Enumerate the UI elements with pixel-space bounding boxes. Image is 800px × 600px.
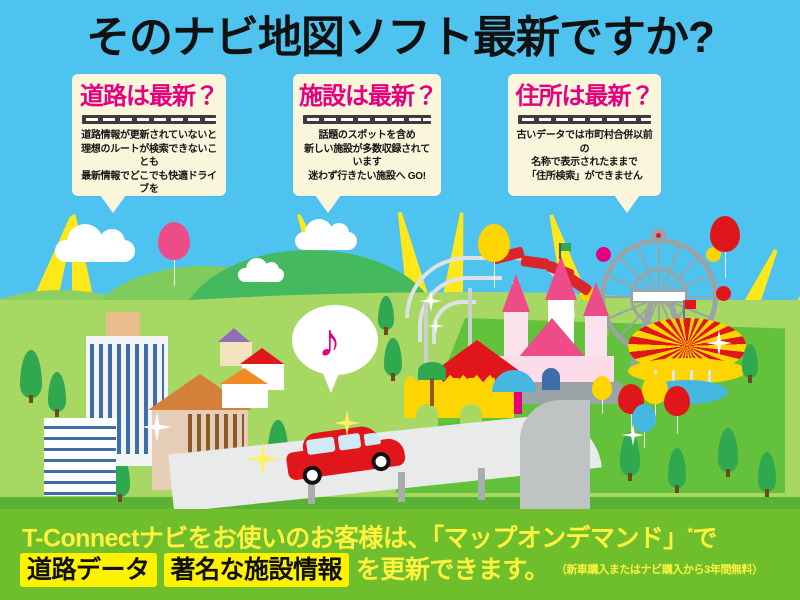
bubble-line: 最新情報でどこでも快適ドライブを (78, 170, 220, 197)
bubble-tail (315, 195, 341, 213)
balloon (158, 222, 190, 260)
tree (742, 344, 758, 378)
balloon (632, 404, 656, 432)
music-note-bubble: ♪ (292, 305, 378, 375)
info-bubble-address: 住所は最新？ 古いデータでは市町村合併以前の 名称で表示されたままで 「住所検索… (508, 74, 661, 196)
balloon (710, 216, 740, 252)
banner-subline: 道路データ 著名な施設情報 を更新できます。 （新車購入またはナビ購入から3年間… (20, 553, 763, 587)
bubble-line: 名称で表示されたままで (514, 156, 655, 170)
bubble-line: 古いデータでは市町村合併以前の (514, 129, 655, 156)
page-title: そのナビ地図ソフト最新ですか? (0, 12, 800, 64)
bubble-line: 理想のルートが検索できないことも (78, 143, 220, 170)
chip-facility-info: 著名な施設情報 (164, 553, 350, 587)
house-red-roof (240, 348, 284, 364)
ferris-gondola (596, 247, 611, 262)
bubble-line: 道路情報が更新されていないと (78, 129, 220, 143)
cloud (238, 268, 284, 282)
chip-road-data: 道路データ (20, 553, 157, 587)
road-divider-icon (518, 115, 651, 124)
bubble-tail (100, 195, 126, 213)
balloon (478, 224, 510, 262)
car-window (338, 433, 362, 451)
carousel-flag-pole (683, 300, 685, 320)
music-note-icon: ♪ (318, 317, 341, 363)
banner-footnote: （新車購入またはナビ購入から3年間無料） (556, 555, 763, 587)
palm-tree-trunk (430, 378, 434, 406)
house-orange-roof (220, 368, 268, 384)
bottom-banner: T-Connectナビをお使いのお客様は、「マップオンデマンド」*で 道路データ… (0, 509, 800, 600)
balloon (664, 386, 690, 416)
tree (20, 350, 42, 398)
bubble-line: 話題のスポットを含め (299, 129, 435, 143)
car-window (364, 432, 382, 446)
bubble-title: 道路は最新？ (78, 82, 220, 112)
castle-turret-body (585, 316, 607, 358)
bubble-line: 「住所検索」ができません (514, 170, 655, 184)
ferris-wheel-cabin (631, 290, 687, 303)
castle-gate (542, 368, 560, 390)
road-pillar (398, 472, 405, 502)
low-rise-building (44, 418, 116, 496)
ferris-gondola (651, 228, 666, 243)
castle-flag (560, 243, 571, 251)
ferris-gondola (716, 286, 731, 301)
music-bubble-tail (322, 371, 340, 393)
banner-headline: T-Connectナビをお使いのお客様は、「マップオンデマンド」*で (22, 517, 717, 553)
castle-turret-roof (545, 256, 577, 300)
castle-flag-pole (559, 243, 561, 259)
bubble-title: 施設は最新？ (299, 82, 435, 112)
tree (758, 452, 776, 492)
banner-headline-text: T-Connectナビをお使いのお客様は、「マップオンデマンド」 (22, 524, 688, 552)
castle-turret-roof (583, 282, 609, 316)
bubble-tail (614, 195, 640, 213)
tree (384, 338, 402, 376)
cloud (295, 232, 357, 250)
tree (718, 428, 738, 472)
road-divider-icon (303, 115, 431, 124)
balloon (592, 376, 612, 400)
poster-root: ♪ そのナビ地図ソフト最新ですか? 道路は最新？ 道路情報が更新されていないと … (0, 0, 800, 600)
tree (620, 432, 640, 476)
tree (48, 372, 66, 412)
tree (668, 448, 686, 488)
castle-turret-roof (502, 274, 530, 312)
info-bubble-facility: 施設は最新？ 話題のスポットを含め 新しい施設が多数収録されています 迷わず行き… (293, 74, 441, 196)
bubble-line: 新しい施設が多数収録されています (299, 143, 435, 170)
banner-headline-suffix: で (692, 524, 716, 552)
office-tower-roofbox (106, 312, 140, 338)
bubble-title: 住所は最新？ (514, 82, 655, 112)
carousel-flag (684, 300, 696, 309)
road-divider-icon (82, 115, 216, 124)
cloud (55, 240, 135, 262)
road-pillar (478, 468, 485, 500)
tree (378, 296, 394, 330)
info-bubble-road: 道路は最新？ 道路情報が更新されていないと 理想のルートが検索できないことも 最… (72, 74, 226, 196)
banner-update-text: を更新できます。 (356, 553, 549, 587)
bubble-line: 迷わず行きたい施設へ GO! (299, 170, 435, 184)
house-orange-body (222, 384, 268, 408)
house-purple-roof (218, 328, 250, 342)
